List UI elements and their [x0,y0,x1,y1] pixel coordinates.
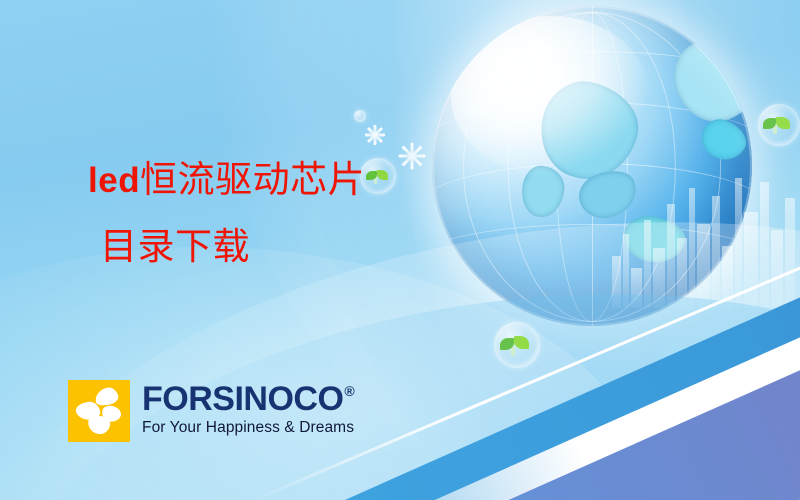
headline-latin: led [88,161,140,200]
registered-trademark-icon: ® [344,384,354,398]
soap-bubble-small-icon [354,110,366,122]
headline-line-1: led恒流驱动芯片 [0,162,420,200]
sprout-leaf [776,117,790,129]
brand-wordmark: FORSINOCO ® [142,382,354,416]
headline-cjk: 恒流驱动芯片 [140,160,365,201]
brand-logotype: FORSINOCO ® For Your Happiness & Dreams [142,380,354,436]
soap-bubble-sprout-icon-2 [494,322,540,368]
sprout-leaf [514,336,529,349]
soap-bubble-sprout-icon-3 [758,104,800,146]
brand-logo: FORSINOCO ® For Your Happiness & Dreams [68,380,354,442]
brand-name: FORSINOCO [142,382,343,416]
sparkle-flower-icon-2 [364,124,385,145]
city-skyline-icon [610,176,800,308]
headline-block: led恒流驱动芯片 目录下载 [0,162,420,266]
poster-canvas: led恒流驱动芯片 目录下载 FORSINOCO ® For Your Happ… [0,0,800,500]
brand-tagline: For Your Happiness & Dreams [142,420,354,436]
four-petal-pinwheel-icon [68,380,130,442]
headline-line-2: 目录下载 [0,229,420,267]
